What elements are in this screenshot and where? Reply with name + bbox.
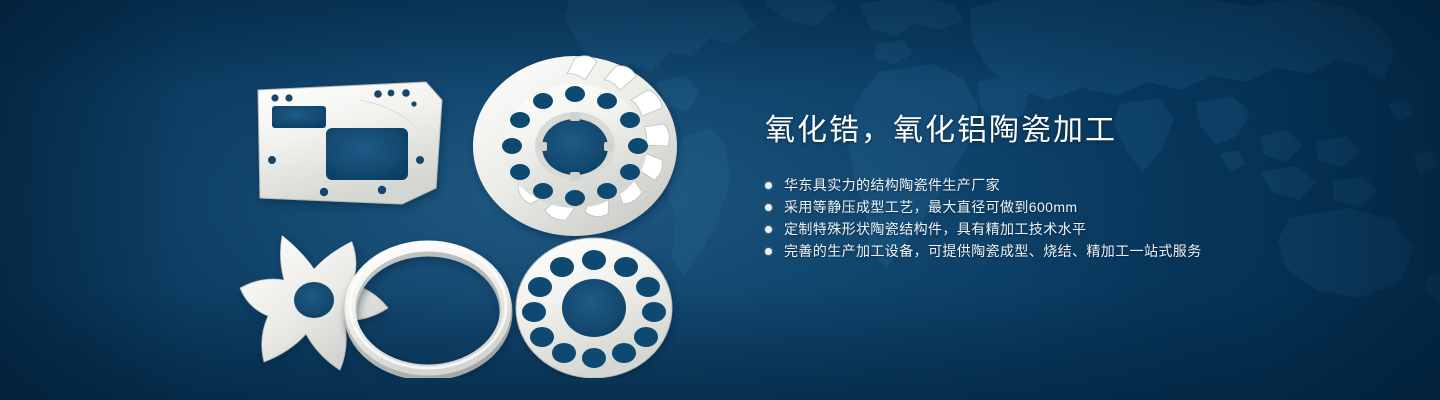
feature-item: 定制特殊形状陶瓷结构件，具有精加工技术水平 <box>765 218 1365 240</box>
feature-text: 完善的生产加工设备，可提供陶瓷成型、烧结、精加工一站式服务 <box>784 243 1202 259</box>
ceramic-perforated-disc <box>516 238 672 378</box>
feature-item: 完善的生产加工设备，可提供陶瓷成型、烧结、精加工一站式服务 <box>765 240 1365 262</box>
feature-text: 采用等静压成型工艺，最大直径可做到600mm <box>784 199 1077 215</box>
ceramic-products-image <box>230 38 700 378</box>
bullet-dot-icon <box>765 226 772 233</box>
ceramic-product-banner: 氧化锆，氧化铝陶瓷加工 华东具实力的结构陶瓷件生产厂家 采用等静压成型工艺，最大… <box>0 0 1440 400</box>
ceramic-impeller-rotor <box>473 56 677 236</box>
banner-copy: 氧化锆，氧化铝陶瓷加工 华东具实力的结构陶瓷件生产厂家 采用等静压成型工艺，最大… <box>765 112 1365 262</box>
bullet-dot-icon <box>765 204 772 211</box>
feature-item: 采用等静压成型工艺，最大直径可做到600mm <box>765 196 1365 218</box>
bullet-dot-icon <box>765 182 772 189</box>
bullet-dot-icon <box>765 248 772 255</box>
feature-text: 定制特殊形状陶瓷结构件，具有精加工技术水平 <box>784 221 1086 237</box>
feature-text: 华东具实力的结构陶瓷件生产厂家 <box>784 177 1000 193</box>
banner-headline: 氧化锆，氧化铝陶瓷加工 <box>765 112 1365 150</box>
banner-feature-list: 华东具实力的结构陶瓷件生产厂家 采用等静压成型工艺，最大直径可做到600mm 定… <box>765 174 1365 262</box>
ceramic-machined-plate <box>258 82 442 204</box>
feature-item: 华东具实力的结构陶瓷件生产厂家 <box>765 174 1365 196</box>
